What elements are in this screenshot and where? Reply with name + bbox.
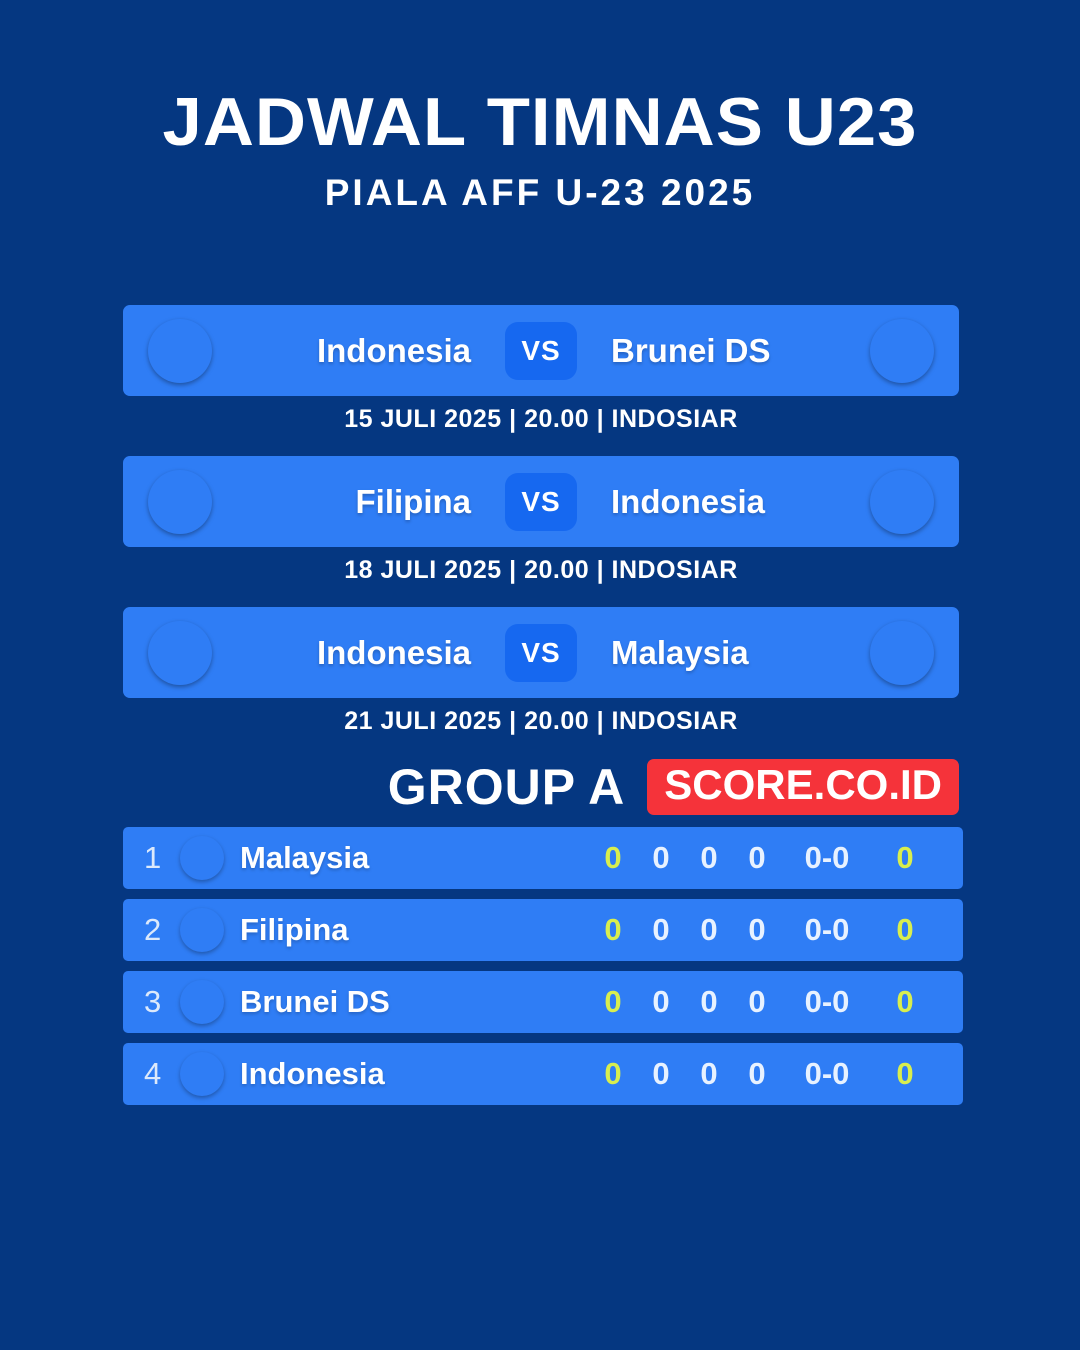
poster-root: JADWAL TIMNAS U23 PIALA AFF U-23 2025 In…	[0, 0, 1080, 1350]
team-name: Malaysia	[240, 840, 589, 876]
table-row[interactable]: 3 Brunei DS 0 0 0 0 0-0 0	[123, 971, 963, 1033]
rank-number: 1	[144, 840, 176, 876]
rank-number: 3	[144, 984, 176, 1020]
stat-win: 0	[637, 912, 685, 948]
match-row[interactable]: Indonesia VS Brunei DS	[123, 305, 959, 396]
brunei-flag-icon	[180, 980, 224, 1024]
match-block: Indonesia VS Brunei DS 15 JULI 2025 | 20…	[123, 305, 959, 436]
match-datetime-channel: 15 JULI 2025 | 20.00 | INDOSIAR	[123, 396, 959, 436]
away-team-name: Indonesia	[577, 483, 847, 521]
brand-badge[interactable]: SCORE.CO.ID	[647, 759, 959, 815]
away-team-name: Brunei DS	[577, 332, 847, 370]
vs-badge: VS	[505, 322, 577, 380]
group-header: GROUP A SCORE.CO.ID	[123, 758, 959, 816]
match-schedule-list: Indonesia VS Brunei DS 15 JULI 2025 | 20…	[123, 305, 959, 758]
match-block: Filipina VS Indonesia 18 JULI 2025 | 20.…	[123, 456, 959, 587]
match-row[interactable]: Filipina VS Indonesia	[123, 456, 959, 547]
home-team-name: Filipina	[235, 483, 505, 521]
philippines-flag-icon	[148, 470, 212, 534]
stat-win: 0	[637, 840, 685, 876]
rank-number: 2	[144, 912, 176, 948]
stat-points: 0	[873, 912, 937, 948]
stat-loss: 0	[733, 912, 781, 948]
table-row[interactable]: 2 Filipina 0 0 0 0 0-0 0	[123, 899, 963, 961]
indonesia-flag-icon	[870, 470, 934, 534]
table-row[interactable]: 4 Indonesia 0 0 0 0 0-0 0	[123, 1043, 963, 1105]
team-name: Filipina	[240, 912, 589, 948]
stat-played: 0	[589, 912, 637, 948]
poster-header: JADWAL TIMNAS U23 PIALA AFF U-23 2025	[0, 88, 1080, 214]
stat-loss: 0	[733, 840, 781, 876]
stat-played: 0	[589, 1056, 637, 1092]
philippines-flag-icon	[180, 908, 224, 952]
stat-draw: 0	[685, 1056, 733, 1092]
stat-points: 0	[873, 840, 937, 876]
match-datetime-channel: 18 JULI 2025 | 20.00 | INDOSIAR	[123, 547, 959, 587]
rank-number: 4	[144, 1056, 176, 1092]
vs-badge: VS	[505, 473, 577, 531]
stat-goals: 0-0	[781, 984, 873, 1020]
home-team-name: Indonesia	[235, 332, 505, 370]
standings-table: 1 Malaysia 0 0 0 0 0-0 0 2 Filipina 0 0 …	[123, 827, 963, 1115]
stat-goals: 0-0	[781, 912, 873, 948]
stat-win: 0	[637, 984, 685, 1020]
away-team-name: Malaysia	[577, 634, 847, 672]
page-subtitle: PIALA AFF U-23 2025	[0, 172, 1080, 214]
stat-win: 0	[637, 1056, 685, 1092]
team-name: Brunei DS	[240, 984, 589, 1020]
stat-points: 0	[873, 1056, 937, 1092]
stat-loss: 0	[733, 984, 781, 1020]
team-name: Indonesia	[240, 1056, 589, 1092]
match-block: Indonesia VS Malaysia 21 JULI 2025 | 20.…	[123, 607, 959, 738]
group-title: GROUP A	[388, 758, 626, 816]
stat-loss: 0	[733, 1056, 781, 1092]
match-row[interactable]: Indonesia VS Malaysia	[123, 607, 959, 698]
stat-points: 0	[873, 984, 937, 1020]
stat-played: 0	[589, 840, 637, 876]
table-row[interactable]: 1 Malaysia 0 0 0 0 0-0 0	[123, 827, 963, 889]
indonesia-flag-icon	[148, 319, 212, 383]
stat-goals: 0-0	[781, 840, 873, 876]
stat-draw: 0	[685, 912, 733, 948]
home-team-name: Indonesia	[235, 634, 505, 672]
brunei-flag-icon	[870, 319, 934, 383]
stat-goals: 0-0	[781, 1056, 873, 1092]
indonesia-flag-icon	[148, 621, 212, 685]
stat-draw: 0	[685, 840, 733, 876]
stat-draw: 0	[685, 984, 733, 1020]
malaysia-flag-icon	[180, 836, 224, 880]
malaysia-flag-icon	[870, 621, 934, 685]
match-datetime-channel: 21 JULI 2025 | 20.00 | INDOSIAR	[123, 698, 959, 738]
stat-played: 0	[589, 984, 637, 1020]
page-title: JADWAL TIMNAS U23	[0, 88, 1080, 156]
vs-badge: VS	[505, 624, 577, 682]
indonesia-flag-icon	[180, 1052, 224, 1096]
